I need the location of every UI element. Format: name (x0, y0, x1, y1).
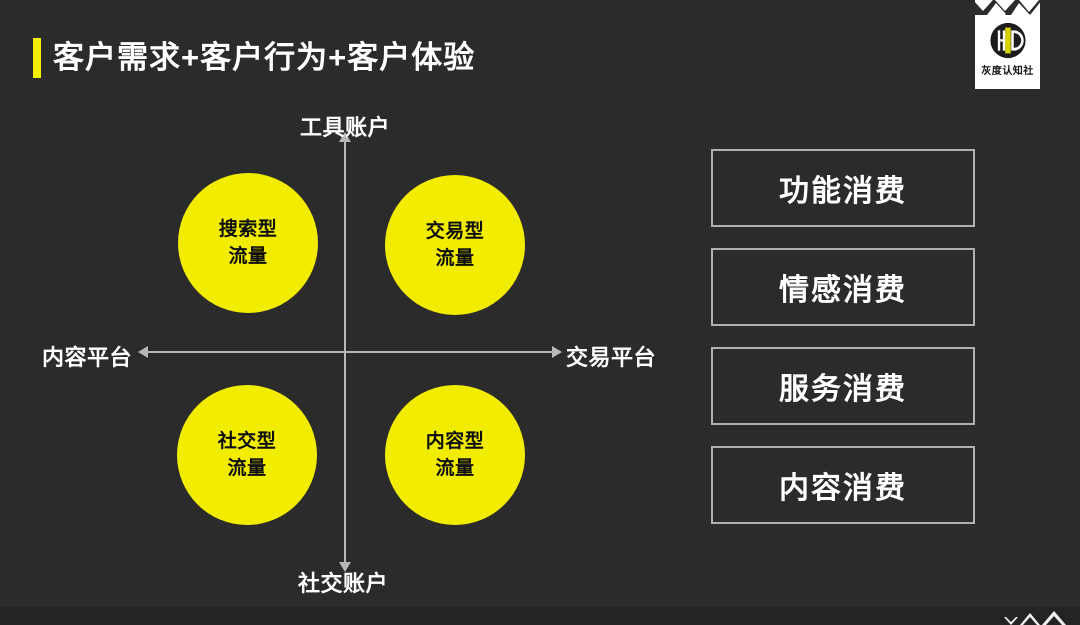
bubble-search-traffic: 搜索型 流量 (178, 173, 318, 313)
consumption-box-emotional: 情感消费 (711, 248, 975, 326)
axis-label-left: 内容平台 (42, 340, 132, 372)
axis-label-right: 交易平台 (566, 340, 656, 372)
slide-canvas: 客户需求+客户行为+客户体验 灰度认知社 工具账户 社交账户 内容平台 交易平 (0, 0, 1080, 625)
quadrant-diagram: 工具账户 社交账户 内容平台 交易平台 搜索型 流量 交易型 流量 社交型 流量… (0, 0, 700, 625)
consumption-box-label: 功能消费 (779, 166, 907, 210)
bubble-line-2: 流量 (228, 243, 267, 270)
bubble-line-2: 流量 (227, 455, 266, 482)
consumption-box-service: 服务消费 (711, 347, 975, 425)
bubble-content-traffic: 内容型 流量 (385, 385, 525, 525)
horizontal-axis-line (148, 351, 553, 353)
consumption-box-label: 服务消费 (779, 364, 907, 408)
bubble-line-2: 流量 (435, 245, 474, 272)
bubble-line-1: 交易型 (426, 218, 485, 245)
axis-label-bottom: 社交账户 (298, 566, 388, 598)
zigzag-watermark-icon (1004, 609, 1068, 625)
logo-emblem-icon (989, 22, 1026, 59)
consumption-box-label: 内容消费 (779, 463, 907, 507)
bottom-band (0, 605, 1080, 625)
zigzag-pattern-icon (975, 0, 1040, 15)
logo-name-label: 灰度认知社 (975, 62, 1040, 77)
bubble-line-1: 搜索型 (219, 216, 278, 243)
consumption-box-list: 功能消费 情感消费 服务消费 内容消费 (711, 149, 975, 545)
bubble-line-2: 流量 (435, 455, 474, 482)
bubble-line-1: 内容型 (426, 428, 485, 455)
axis-label-top: 工具账户 (300, 110, 390, 142)
bubble-line-1: 社交型 (218, 428, 277, 455)
axis-arrow-left-icon (138, 346, 148, 358)
consumption-box-functional: 功能消费 (711, 149, 975, 227)
bubble-social-traffic: 社交型 流量 (177, 385, 317, 525)
axis-arrow-right-icon (552, 346, 562, 358)
consumption-box-label: 情感消费 (779, 265, 907, 309)
consumption-box-content: 内容消费 (711, 446, 975, 524)
bubble-transaction-traffic: 交易型 流量 (385, 175, 525, 315)
brand-logo: 灰度认知社 (975, 0, 1040, 89)
